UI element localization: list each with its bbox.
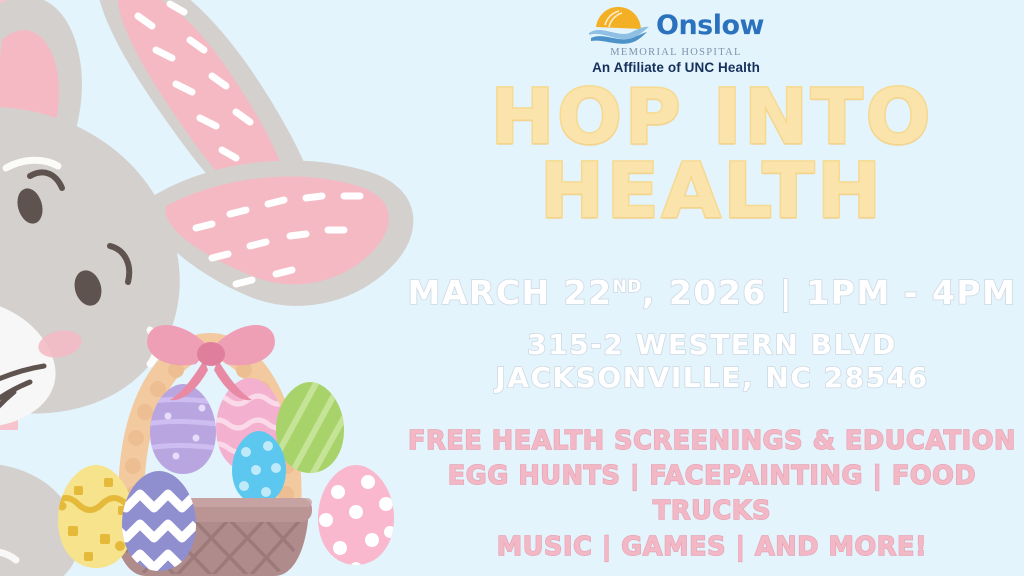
hospital-logo: Onslow MEMORIAL HOSPITAL An Affiliate of… xyxy=(566,4,786,70)
activity-line-3: MUSIC | GAMES | AND MORE! xyxy=(390,530,1024,565)
logo-wordmark: Onslow xyxy=(656,12,764,39)
date-prefix: MARCH 22 xyxy=(408,273,613,312)
event-date-time: MARCH 22ND, 2026 | 1PM - 4PM xyxy=(390,274,1024,312)
date-suffix: , 2026 | 1PM - 4PM xyxy=(642,273,1017,312)
headline-line-1: HOP INTO xyxy=(400,80,1024,154)
logo-subtitle: MEMORIAL HOSPITAL xyxy=(566,47,786,58)
event-address: 315-2 WESTERN BLVD JACKSONVILLE, NC 2854… xyxy=(390,328,1024,394)
event-headline: HOP INTO HEALTH xyxy=(400,80,1024,229)
bunny-ear-right xyxy=(149,160,414,305)
logo-name: Onslow xyxy=(656,10,764,41)
headline-line-2: HEALTH xyxy=(400,154,1024,228)
event-activities: FREE HEALTH SCREENINGS & EDUCATION EGG H… xyxy=(390,424,1024,565)
egg-pink-polkadot xyxy=(318,465,396,574)
flyer-canvas: Onslow MEMORIAL HOSPITAL An Affiliate of… xyxy=(0,0,1024,576)
activity-line-1: FREE HEALTH SCREENINGS & EDUCATION xyxy=(390,424,1024,459)
date-ordinal: ND xyxy=(613,277,642,297)
logo-primary-row: Onslow xyxy=(566,4,786,46)
address-line-1: 315-2 WESTERN BLVD xyxy=(390,328,1024,361)
easter-bunny-basket-illustration xyxy=(0,0,420,576)
sun-over-wave-icon xyxy=(588,5,650,45)
address-line-2: JACKSONVILLE, NC 28546 xyxy=(390,361,1024,394)
event-info: MARCH 22ND, 2026 | 1PM - 4PM 315-2 WESTE… xyxy=(390,274,1024,394)
activity-line-2: EGG HUNTS | FACEPAINTING | FOOD TRUCKS xyxy=(390,459,1024,529)
